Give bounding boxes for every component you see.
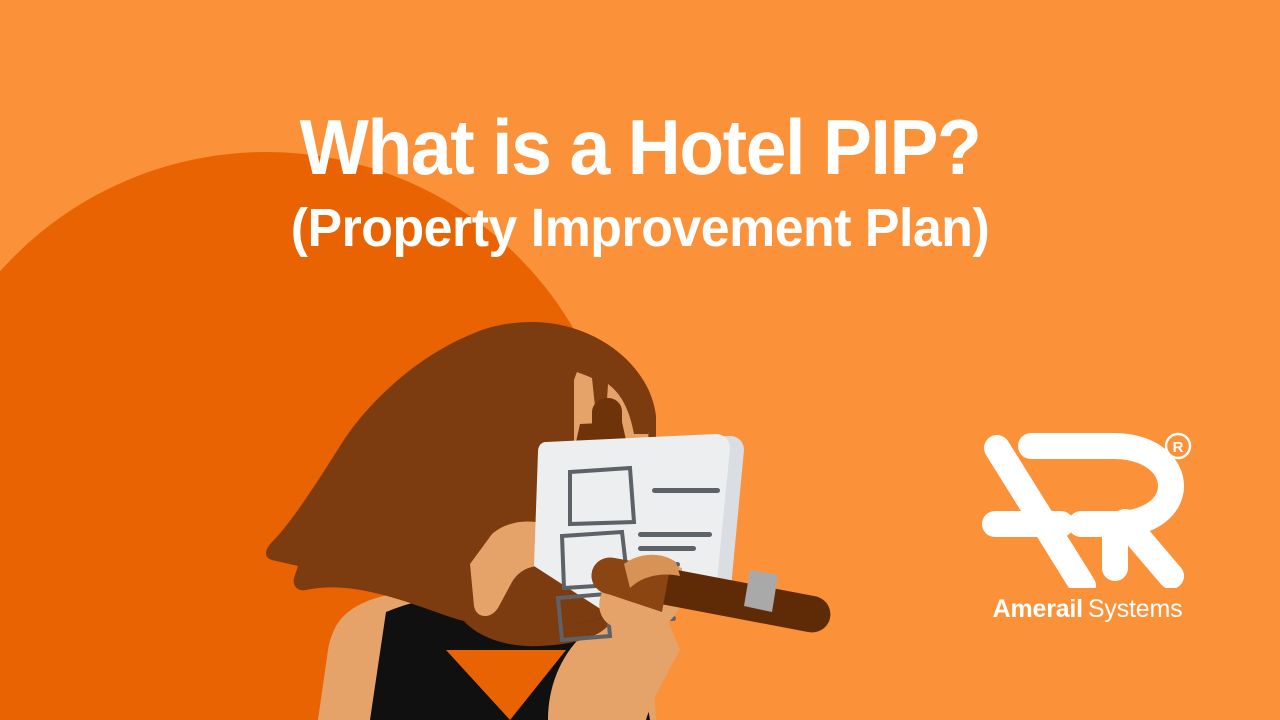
slide-canvas: What is a Hotel PIP? (Property Improveme… (0, 0, 1280, 720)
logo-brand-name: Amerail (993, 595, 1083, 623)
brand-logo[interactable]: R AmerailSystems (975, 428, 1200, 633)
ar-monogram-icon: R (975, 428, 1200, 588)
registered-trademark-icon: R (1166, 434, 1190, 458)
logo-brand-suffix: Systems (1088, 595, 1182, 623)
illustration-woman-with-clipboard (210, 320, 850, 720)
svg-text:R: R (1173, 439, 1184, 456)
logo-wordmark: AmerailSystems (975, 595, 1200, 623)
clipboard-line-1 (652, 488, 720, 493)
